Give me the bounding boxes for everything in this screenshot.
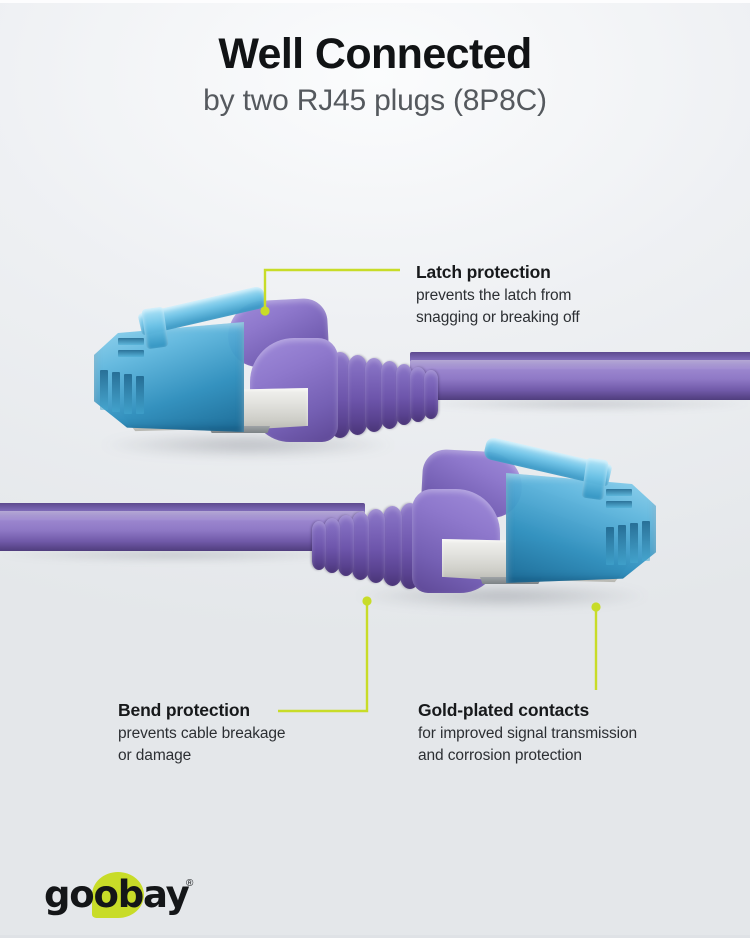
leader-line-bend bbox=[278, 601, 367, 711]
logo-wordmark: goobay bbox=[44, 874, 189, 916]
boot-rib bbox=[312, 521, 326, 570]
gold-contact-slot bbox=[606, 501, 632, 508]
gold-contact-slot bbox=[606, 489, 632, 496]
callout-latch-protection: Latch protection prevents the latch from… bbox=[416, 262, 716, 329]
header: Well Connected by two RJ45 plugs (8P8C) bbox=[0, 32, 750, 119]
registered-trademark-symbol: ® bbox=[186, 878, 193, 889]
gold-contact-slot bbox=[630, 523, 638, 563]
infographic-page: Well Connected by two RJ45 plugs (8P8C) bbox=[0, 0, 750, 938]
callout-line-1: for improved signal transmission bbox=[418, 724, 718, 745]
ethernet-cable-top bbox=[410, 352, 750, 400]
gold-contact-slot bbox=[136, 376, 144, 414]
gold-contact-slot bbox=[118, 350, 144, 357]
cable-highlight bbox=[0, 511, 365, 521]
boot-rib bbox=[367, 509, 385, 583]
cable-highlight bbox=[410, 360, 750, 370]
boot-rib bbox=[383, 506, 402, 586]
callout-heading: Latch protection bbox=[416, 262, 716, 284]
callout-bend-protection: Bend protection prevents cable breakage … bbox=[118, 700, 378, 767]
callout-line-2: snagging or breaking off bbox=[416, 308, 716, 329]
gold-contact-slot bbox=[100, 370, 108, 410]
gold-contact-slot bbox=[618, 525, 626, 565]
page-title: Well Connected bbox=[0, 32, 750, 77]
boot-rib bbox=[352, 512, 369, 580]
gold-contact-slot bbox=[112, 372, 120, 412]
ethernet-cable-bottom bbox=[0, 503, 365, 551]
gold-contact-slot bbox=[642, 521, 650, 561]
callout-heading: Gold-plated contacts bbox=[418, 700, 718, 722]
rj45-plug-bottom bbox=[322, 437, 672, 607]
goobay-logo: goobay ® bbox=[44, 872, 214, 918]
callout-gold-plated-contacts: Gold-plated contacts for improved signal… bbox=[418, 700, 718, 767]
callout-line-2: and corrosion protection bbox=[418, 746, 718, 767]
callout-line-1: prevents the latch from bbox=[416, 286, 716, 307]
callout-line-1: prevents cable breakage bbox=[118, 724, 378, 745]
rj45-plug-top bbox=[78, 286, 428, 456]
boot-rib bbox=[338, 515, 354, 576]
boot-rib bbox=[424, 370, 438, 419]
gold-contact-slot bbox=[118, 338, 144, 345]
callout-line-2: or damage bbox=[118, 746, 378, 767]
gold-contact-slot bbox=[606, 527, 614, 565]
top-edge-highlight bbox=[0, 0, 750, 3]
page-subtitle: by two RJ45 plugs (8P8C) bbox=[0, 83, 750, 119]
gold-contact-slot bbox=[124, 374, 132, 414]
boot-rib bbox=[324, 518, 340, 573]
callout-heading: Bend protection bbox=[118, 700, 378, 722]
